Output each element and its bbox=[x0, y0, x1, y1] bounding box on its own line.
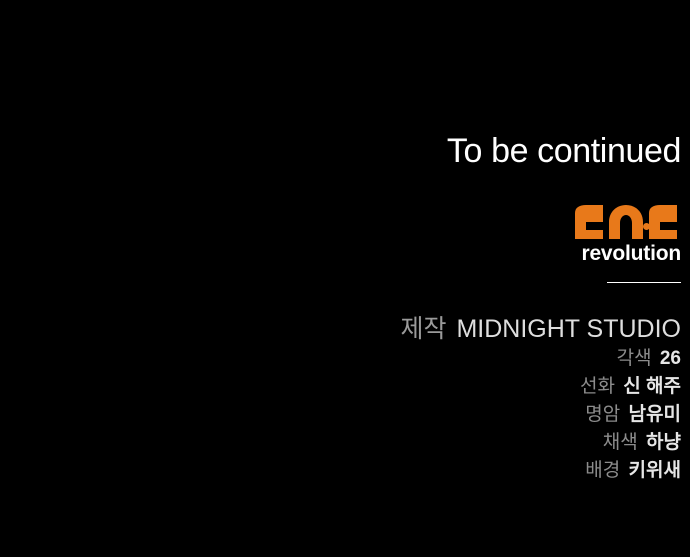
credit-label: 제작 bbox=[400, 315, 446, 343]
cnc-logo-icon bbox=[573, 203, 681, 245]
credits-list: 제작 MIDNIGHT STUDIO 각색 26 선화 신 해주 명암 남유미 … bbox=[261, 314, 681, 487]
credits-divider bbox=[607, 282, 681, 283]
credit-value: 신 해주 bbox=[623, 376, 681, 397]
to-be-continued-text: To be continued bbox=[447, 133, 681, 169]
credit-row-background: 배경 키위새 bbox=[261, 459, 681, 483]
credit-value: 키위새 bbox=[629, 460, 681, 481]
credit-label: 배경 bbox=[585, 460, 620, 481]
credit-label: 채색 bbox=[603, 432, 638, 453]
credit-label: 각색 bbox=[617, 348, 652, 369]
credit-row-lineart: 선화 신 해주 bbox=[261, 375, 681, 399]
credit-value: 남유미 bbox=[629, 404, 681, 425]
cnc-revolution-logo: revolution bbox=[571, 203, 681, 265]
credit-row-coloring: 채색 하냥 bbox=[261, 431, 681, 455]
revolution-wordmark: revolution bbox=[571, 243, 681, 265]
credit-value: MIDNIGHT STUDIO bbox=[456, 315, 681, 343]
credit-value: 하냥 bbox=[646, 432, 681, 453]
credit-value: 26 bbox=[660, 348, 681, 369]
credit-label: 명암 bbox=[585, 404, 620, 425]
credit-label: 선화 bbox=[580, 376, 615, 397]
credit-row-adaptation: 각색 26 bbox=[261, 347, 681, 371]
end-card-screen: To be continued revolution bbox=[0, 0, 690, 557]
credit-row-studio: 제작 MIDNIGHT STUDIO bbox=[261, 314, 681, 344]
credit-row-shading: 명암 남유미 bbox=[261, 403, 681, 427]
